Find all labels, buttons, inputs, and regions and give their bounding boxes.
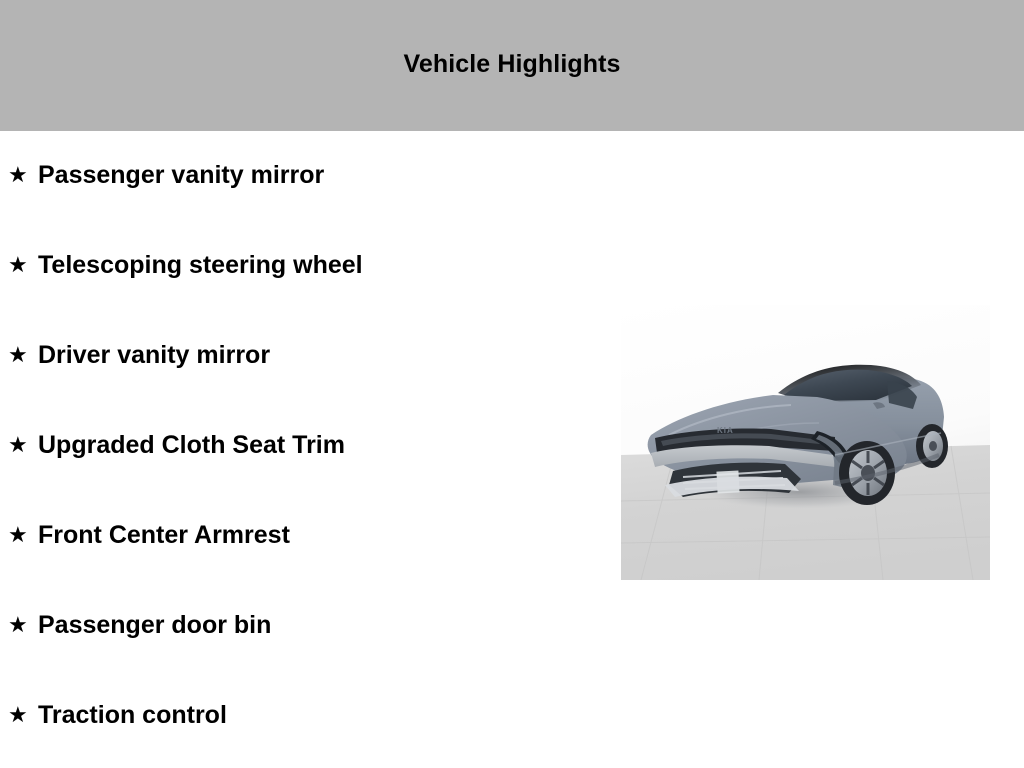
page-title: Vehicle Highlights	[403, 52, 620, 77]
star-bullet-icon: ★	[8, 704, 38, 726]
highlight-label: Passenger door bin	[38, 612, 271, 640]
list-item: ★ Front Center Armrest	[0, 491, 600, 581]
vehicle-photo-illustration: KIA	[621, 305, 990, 580]
highlight-label: Upgraded Cloth Seat Trim	[38, 432, 345, 460]
highlight-label: Traction control	[38, 702, 227, 730]
highlight-label: Driver vanity mirror	[38, 342, 270, 370]
star-bullet-icon: ★	[8, 344, 38, 366]
star-bullet-icon: ★	[8, 524, 38, 546]
vehicle-photo: KIA	[621, 305, 990, 580]
list-item: ★ Traction control	[0, 671, 600, 761]
list-item: ★ Passenger vanity mirror	[0, 131, 600, 221]
highlight-label: Front Center Armrest	[38, 522, 290, 550]
vehicle-highlights-list: ★ Passenger vanity mirror ★ Telescoping …	[0, 131, 600, 761]
star-bullet-icon: ★	[8, 614, 38, 636]
list-item: ★ Driver vanity mirror	[0, 311, 600, 401]
list-item: ★ Upgraded Cloth Seat Trim	[0, 401, 600, 491]
highlight-label: Telescoping steering wheel	[38, 252, 363, 280]
star-bullet-icon: ★	[8, 434, 38, 456]
list-item: ★ Telescoping steering wheel	[0, 221, 600, 311]
kia-badge: KIA	[717, 426, 734, 435]
star-bullet-icon: ★	[8, 254, 38, 276]
list-item: ★ Passenger door bin	[0, 581, 600, 671]
highlight-label: Passenger vanity mirror	[38, 162, 324, 190]
star-bullet-icon: ★	[8, 164, 38, 186]
header-bar: Vehicle Highlights	[0, 0, 1024, 131]
